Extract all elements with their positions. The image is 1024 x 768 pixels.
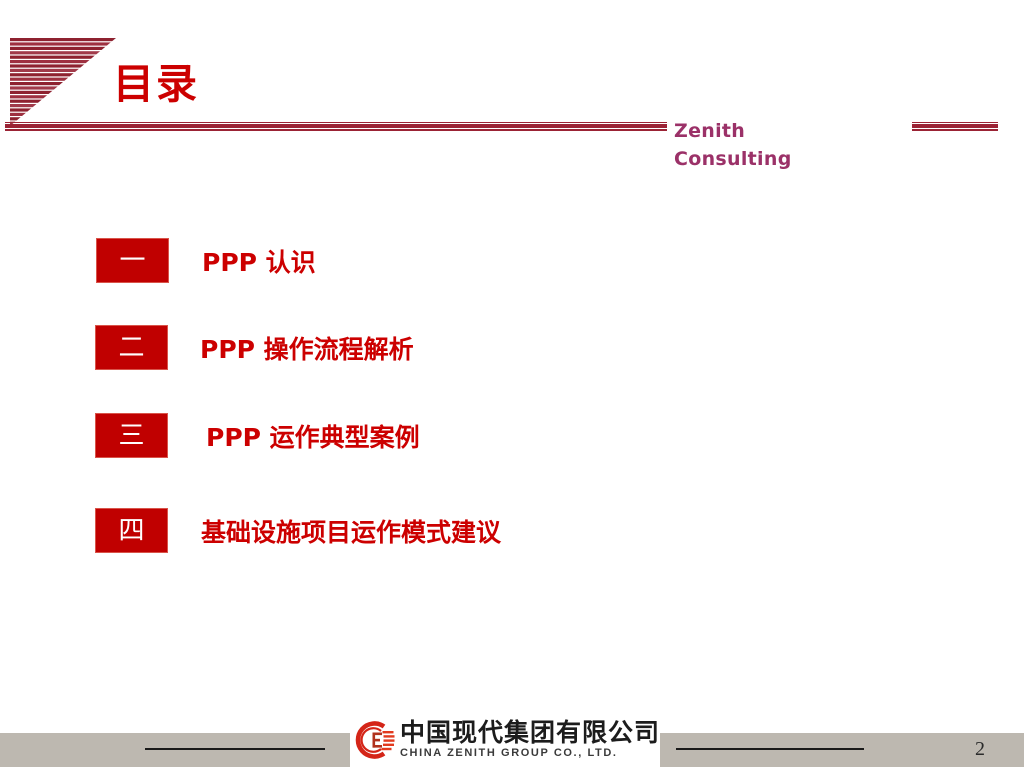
zenith-circle-c-logo-icon — [350, 717, 396, 763]
brand-line-2: Consulting — [674, 146, 792, 174]
toc-number-box-3: 三 — [95, 413, 168, 458]
toc-number-box-4: 四 — [95, 508, 168, 553]
page-title: 目录 — [113, 64, 199, 105]
toc-item-4[interactable]: 四 基础设施项目运作模式建议 — [95, 508, 501, 553]
toc-label-3: PPP 运作典型案例 — [206, 418, 420, 454]
header-double-rule-left — [5, 122, 667, 131]
toc-number-box-1: 一 — [96, 238, 169, 283]
brand-line-1: Zenith — [674, 118, 792, 146]
footer-rule-right — [676, 748, 864, 750]
slide-canvas: 目录 Zenith Consulting 一 PPP 认识 二 PPP 操作流程… — [0, 0, 1024, 767]
footer-rule-left — [145, 748, 325, 750]
striped-triangle-decoration — [8, 38, 116, 126]
header-double-rule-right — [912, 122, 998, 131]
toc-label-2: PPP 操作流程解析 — [200, 330, 414, 366]
toc-number-box-2: 二 — [95, 325, 168, 370]
page-number: 2 — [975, 738, 985, 761]
toc-label-1: PPP 认识 — [202, 243, 316, 279]
brand-wordmark: Zenith Consulting — [674, 118, 792, 173]
toc-label-4: 基础设施项目运作模式建议 — [201, 513, 501, 549]
company-logo: 中国现代集团有限公司 CHINA ZENITH GROUP CO., LTD. — [350, 712, 660, 767]
company-name-en: CHINA ZENITH GROUP CO., LTD. — [400, 748, 660, 759]
toc-item-1[interactable]: 一 PPP 认识 — [96, 238, 316, 283]
toc-item-2[interactable]: 二 PPP 操作流程解析 — [95, 325, 414, 370]
company-logo-text: 中国现代集团有限公司 CHINA ZENITH GROUP CO., LTD. — [400, 720, 660, 759]
company-name-cn: 中国现代集团有限公司 — [400, 720, 660, 745]
toc-item-3[interactable]: 三 PPP 运作典型案例 — [95, 413, 420, 458]
